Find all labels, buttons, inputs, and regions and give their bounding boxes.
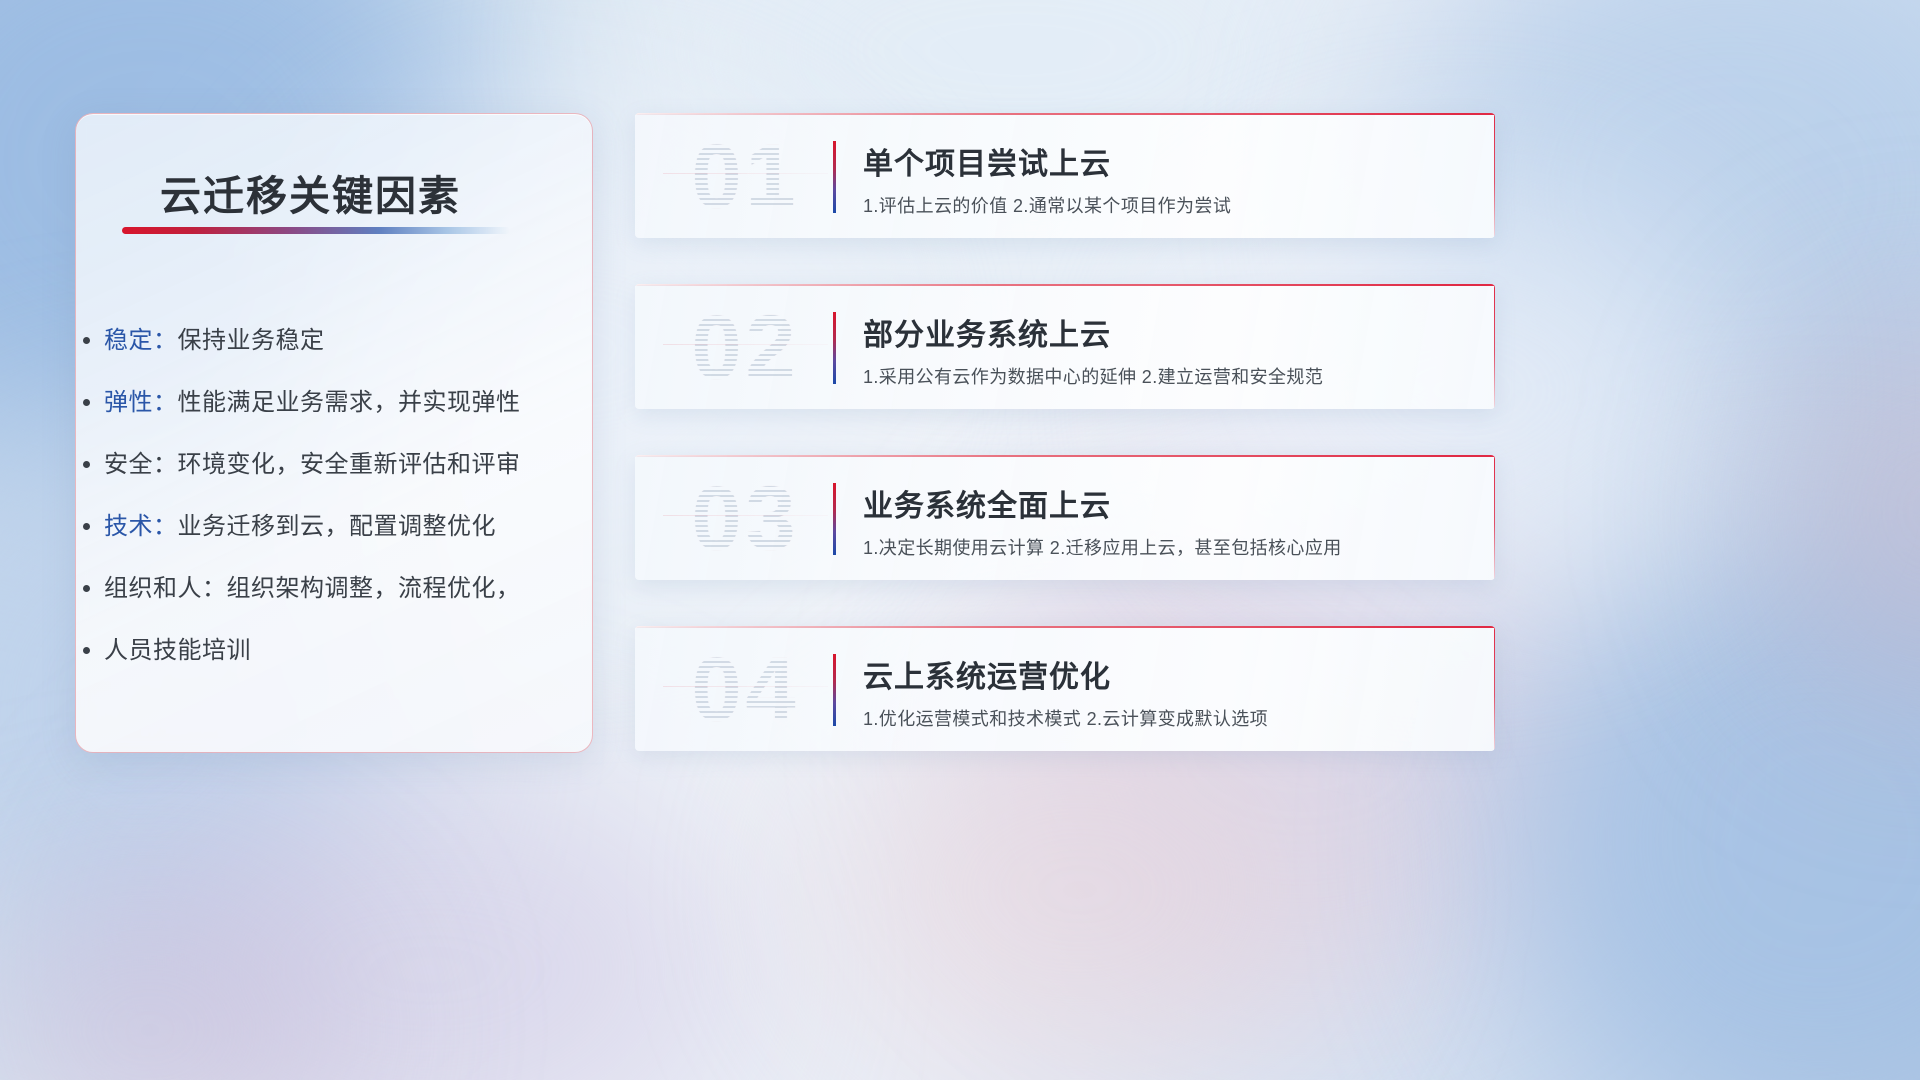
- card-description: 1.采用公有云作为数据中心的延伸 2.建立运营和安全规范: [863, 363, 1323, 389]
- watermark-red-tint: [663, 515, 828, 525]
- card-description: 1.评估上云的价值 2.通常以某个项目作为尝试: [863, 192, 1231, 218]
- migration-stage-cards: 01单个项目尝试上云1.评估上云的价值 2.通常以某个项目作为尝试02部分业务系…: [635, 113, 1495, 797]
- card-accent-bar: [833, 141, 836, 213]
- key-factor-label: 稳定：: [104, 327, 178, 354]
- key-factor-item: 技术：业务迁移到云，配置调整优化: [104, 496, 574, 558]
- stage-number-watermark: 04: [663, 636, 828, 744]
- key-factors-list: 稳定：保持业务稳定弹性：性能满足业务需求，并实现弹性安全：环境变化，安全重新评估…: [104, 310, 574, 682]
- key-factor-text: 性能满足业务需求，并实现弹性: [178, 389, 521, 416]
- key-factor-label: 弹性：: [104, 389, 178, 416]
- key-factors-panel: 云迁移关键因素 稳定：保持业务稳定弹性：性能满足业务需求，并实现弹性安全：环境变…: [75, 113, 593, 753]
- key-factor-text: 业务迁移到云，配置调整优化: [178, 513, 497, 540]
- key-factor-label: 组织和人：: [104, 575, 227, 602]
- key-factor-label: 安全：: [104, 451, 178, 478]
- key-factor-item: 安全：环境变化，安全重新评估和评审: [104, 434, 574, 496]
- card-description: 1.优化运营模式和技术模式 2.云计算变成默认选项: [863, 705, 1268, 731]
- key-factor-item: 组织和人：组织架构调整，流程优化，: [104, 558, 574, 620]
- stage-card[interactable]: 02部分业务系统上云1.采用公有云作为数据中心的延伸 2.建立运营和安全规范: [635, 284, 1495, 409]
- stage-card[interactable]: 04云上系统运营优化1.优化运营模式和技术模式 2.云计算变成默认选项: [635, 626, 1495, 751]
- title-underline-gradient: [122, 227, 510, 234]
- card-title: 部分业务系统上云: [863, 310, 1111, 354]
- card-title: 单个项目尝试上云: [863, 139, 1111, 183]
- stage-number-watermark: 02: [663, 294, 828, 402]
- watermark-red-tint: [663, 686, 828, 696]
- key-factor-text: 环境变化，安全重新评估和评审: [178, 451, 521, 478]
- watermark-red-tint: [663, 344, 828, 354]
- slide-stage: 云迁移关键因素 稳定：保持业务稳定弹性：性能满足业务需求，并实现弹性安全：环境变…: [0, 0, 1920, 1080]
- stage-card[interactable]: 03业务系统全面上云1.决定长期使用云计算 2.迁移应用上云，甚至包括核心应用: [635, 455, 1495, 580]
- panel-title: 云迁移关键因素: [160, 162, 461, 222]
- card-accent-bar: [833, 483, 836, 555]
- stage-card[interactable]: 01单个项目尝试上云1.评估上云的价值 2.通常以某个项目作为尝试: [635, 113, 1495, 238]
- key-factor-text: 组织架构调整，流程优化，: [227, 575, 521, 602]
- stage-number-watermark: 03: [663, 465, 828, 573]
- key-factor-item: 弹性：性能满足业务需求，并实现弹性: [104, 372, 574, 434]
- key-factor-text: 保持业务稳定: [178, 327, 325, 354]
- key-factor-item: 人员技能培训: [104, 620, 574, 682]
- card-accent-bar: [833, 312, 836, 384]
- watermark-red-tint: [663, 173, 828, 183]
- key-factor-text: 人员技能培训: [104, 637, 251, 664]
- key-factor-item: 稳定：保持业务稳定: [104, 310, 574, 372]
- card-title: 云上系统运营优化: [863, 652, 1111, 696]
- card-description: 1.决定长期使用云计算 2.迁移应用上云，甚至包括核心应用: [863, 534, 1342, 560]
- card-title: 业务系统全面上云: [863, 481, 1111, 525]
- key-factor-label: 技术：: [104, 513, 178, 540]
- card-accent-bar: [833, 654, 836, 726]
- stage-number-watermark: 01: [663, 123, 828, 231]
